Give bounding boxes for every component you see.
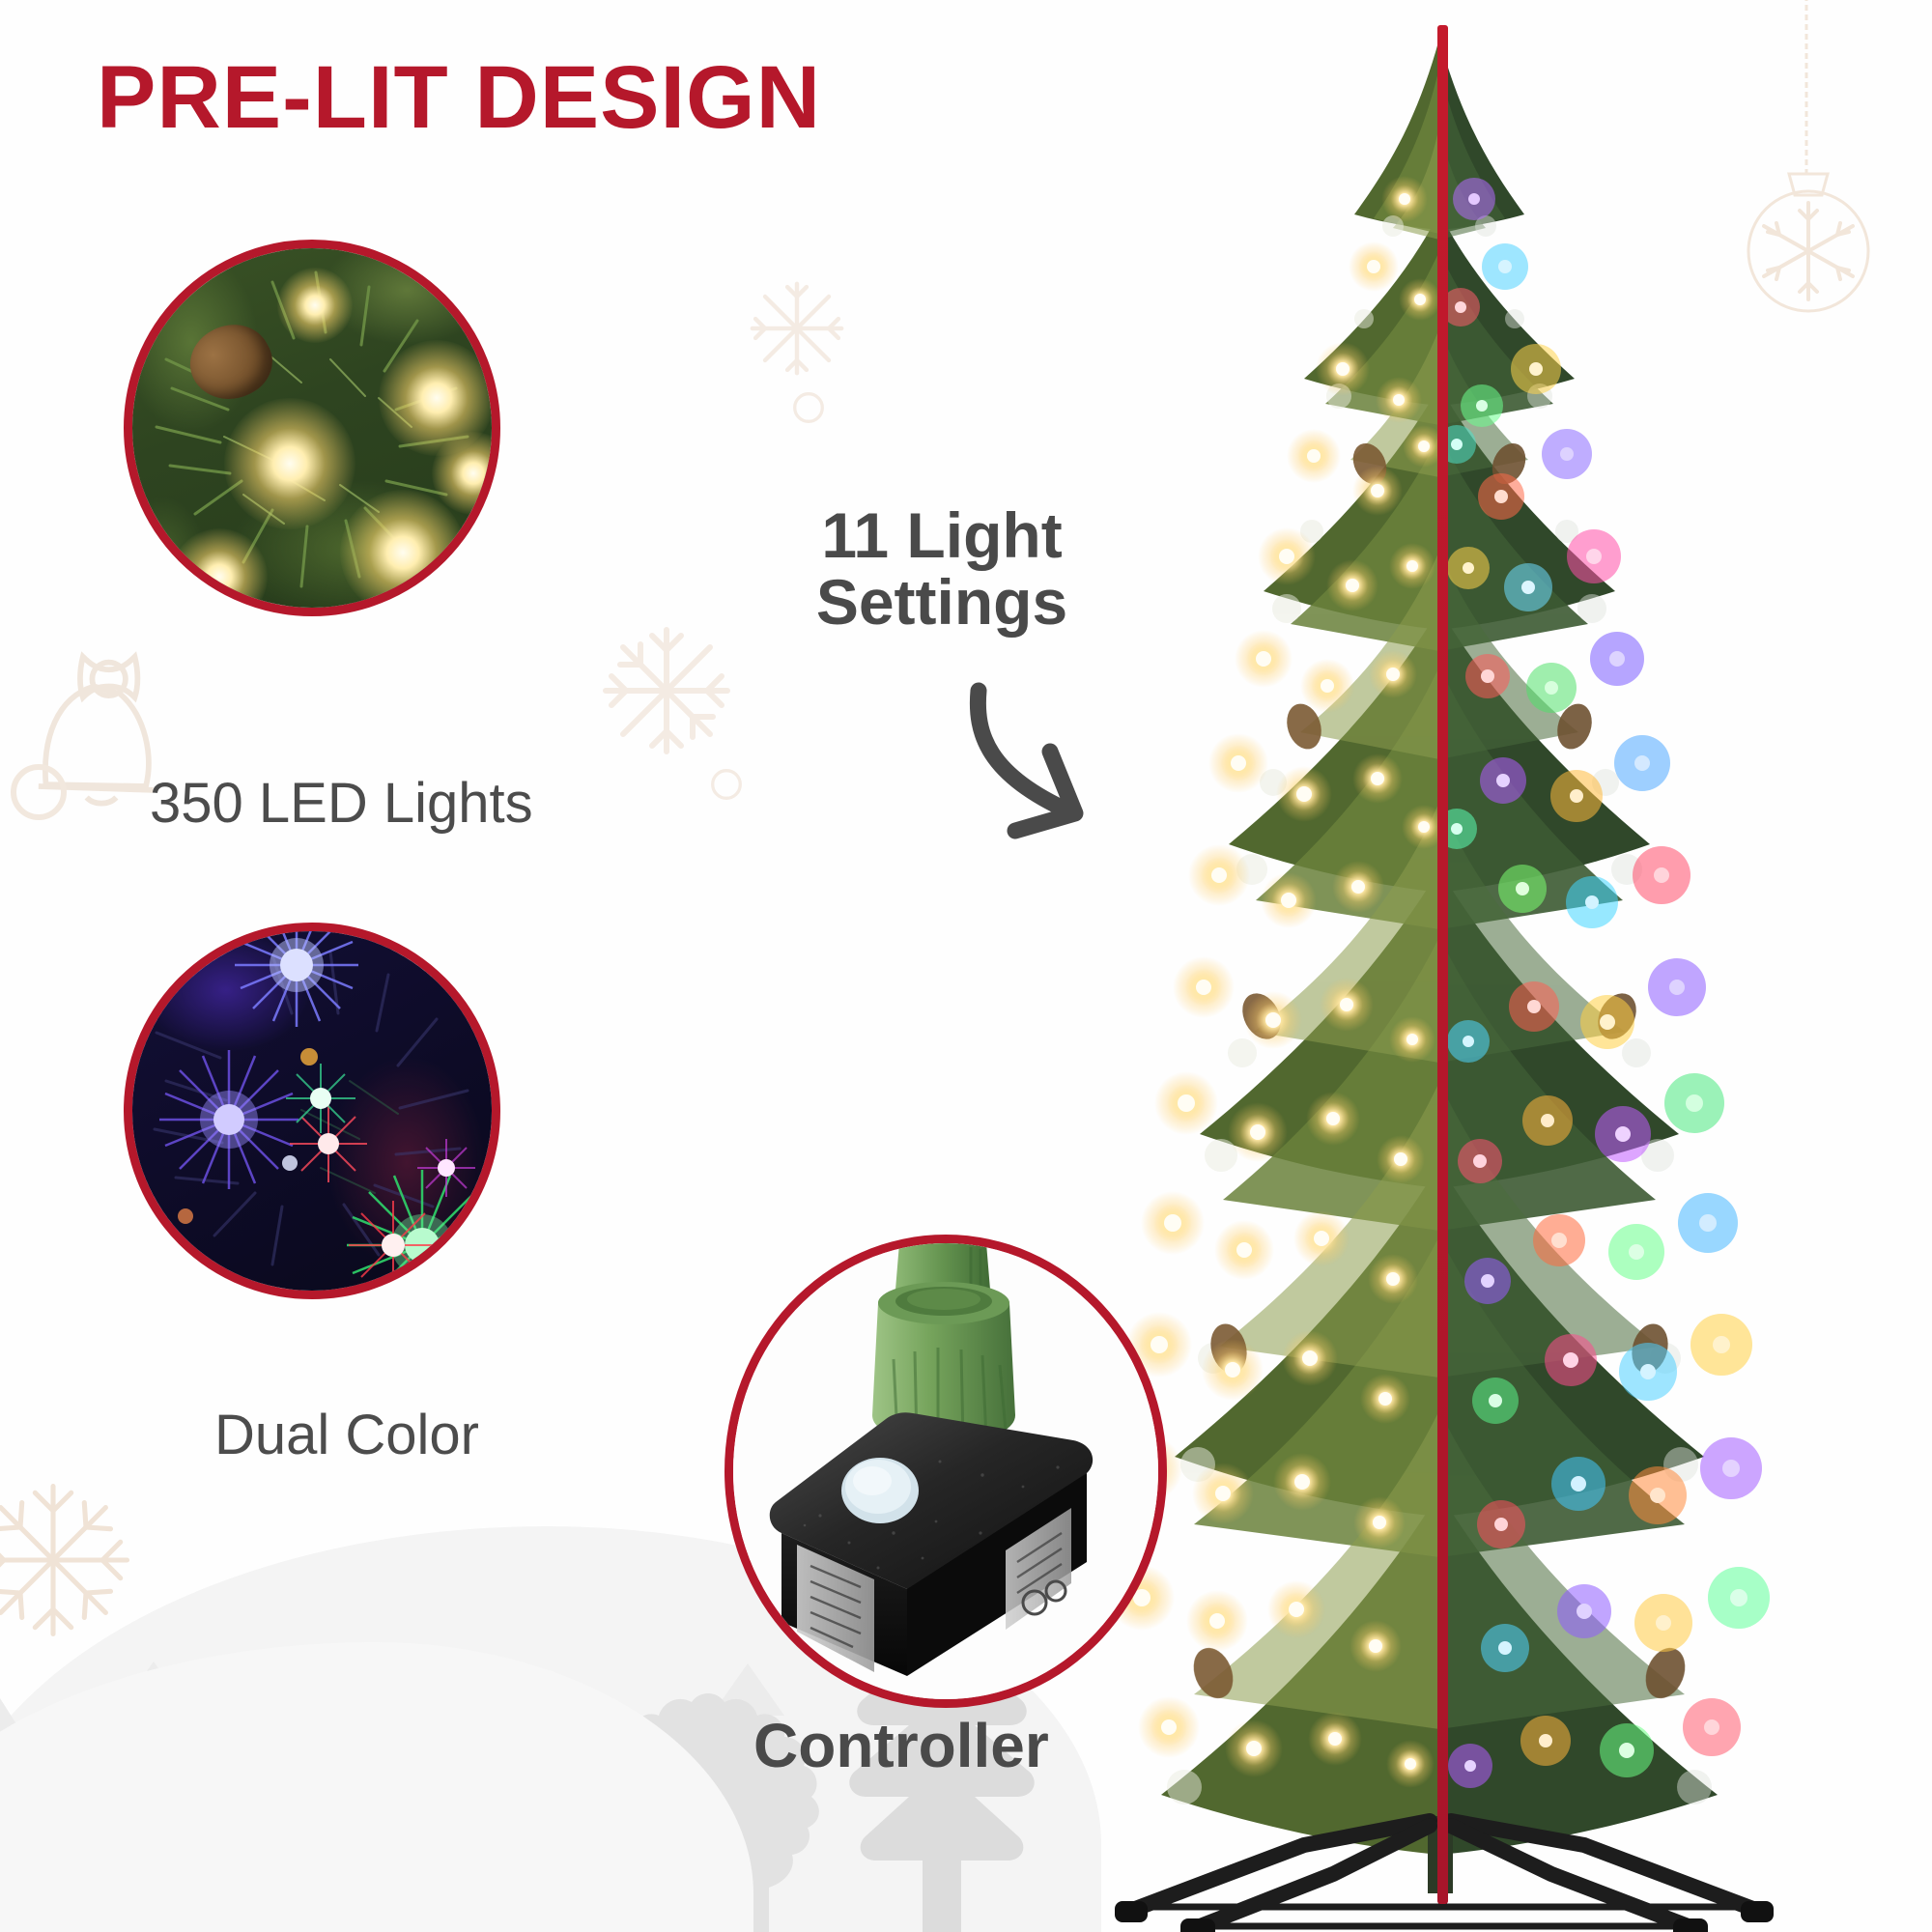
feature-caption-led-lights: 350 LED Lights [150, 771, 533, 836]
controller-photo [733, 1243, 1158, 1699]
snowflake-watermark-icon [744, 275, 850, 382]
snowflake-watermark-icon [705, 763, 748, 806]
feature-circle-dual-color [124, 923, 500, 1299]
feature-caption-dual-color: Dual Color [214, 1403, 479, 1467]
tree-split-divider-line [1437, 25, 1448, 1904]
feature-caption-controller: Controller [753, 1710, 1049, 1781]
page-title: PRE-LIT DESIGN [97, 53, 821, 142]
led-light-glow [171, 528, 268, 616]
marketing-image-canvas: PRE-LIT DESIGN [0, 0, 1932, 1932]
feature-circle-controller [724, 1235, 1167, 1708]
feature-circle-led-lights [124, 240, 500, 616]
snowflake-watermark-icon [0, 753, 77, 831]
dual-color-photo [132, 931, 492, 1291]
led-light-glow [277, 268, 353, 343]
snowflake-watermark-icon [787, 386, 830, 429]
led-light-glow [340, 490, 466, 615]
snowflake-watermark-icon [594, 618, 739, 763]
led-light-glow [224, 398, 355, 529]
led-lights-photo [132, 248, 492, 608]
